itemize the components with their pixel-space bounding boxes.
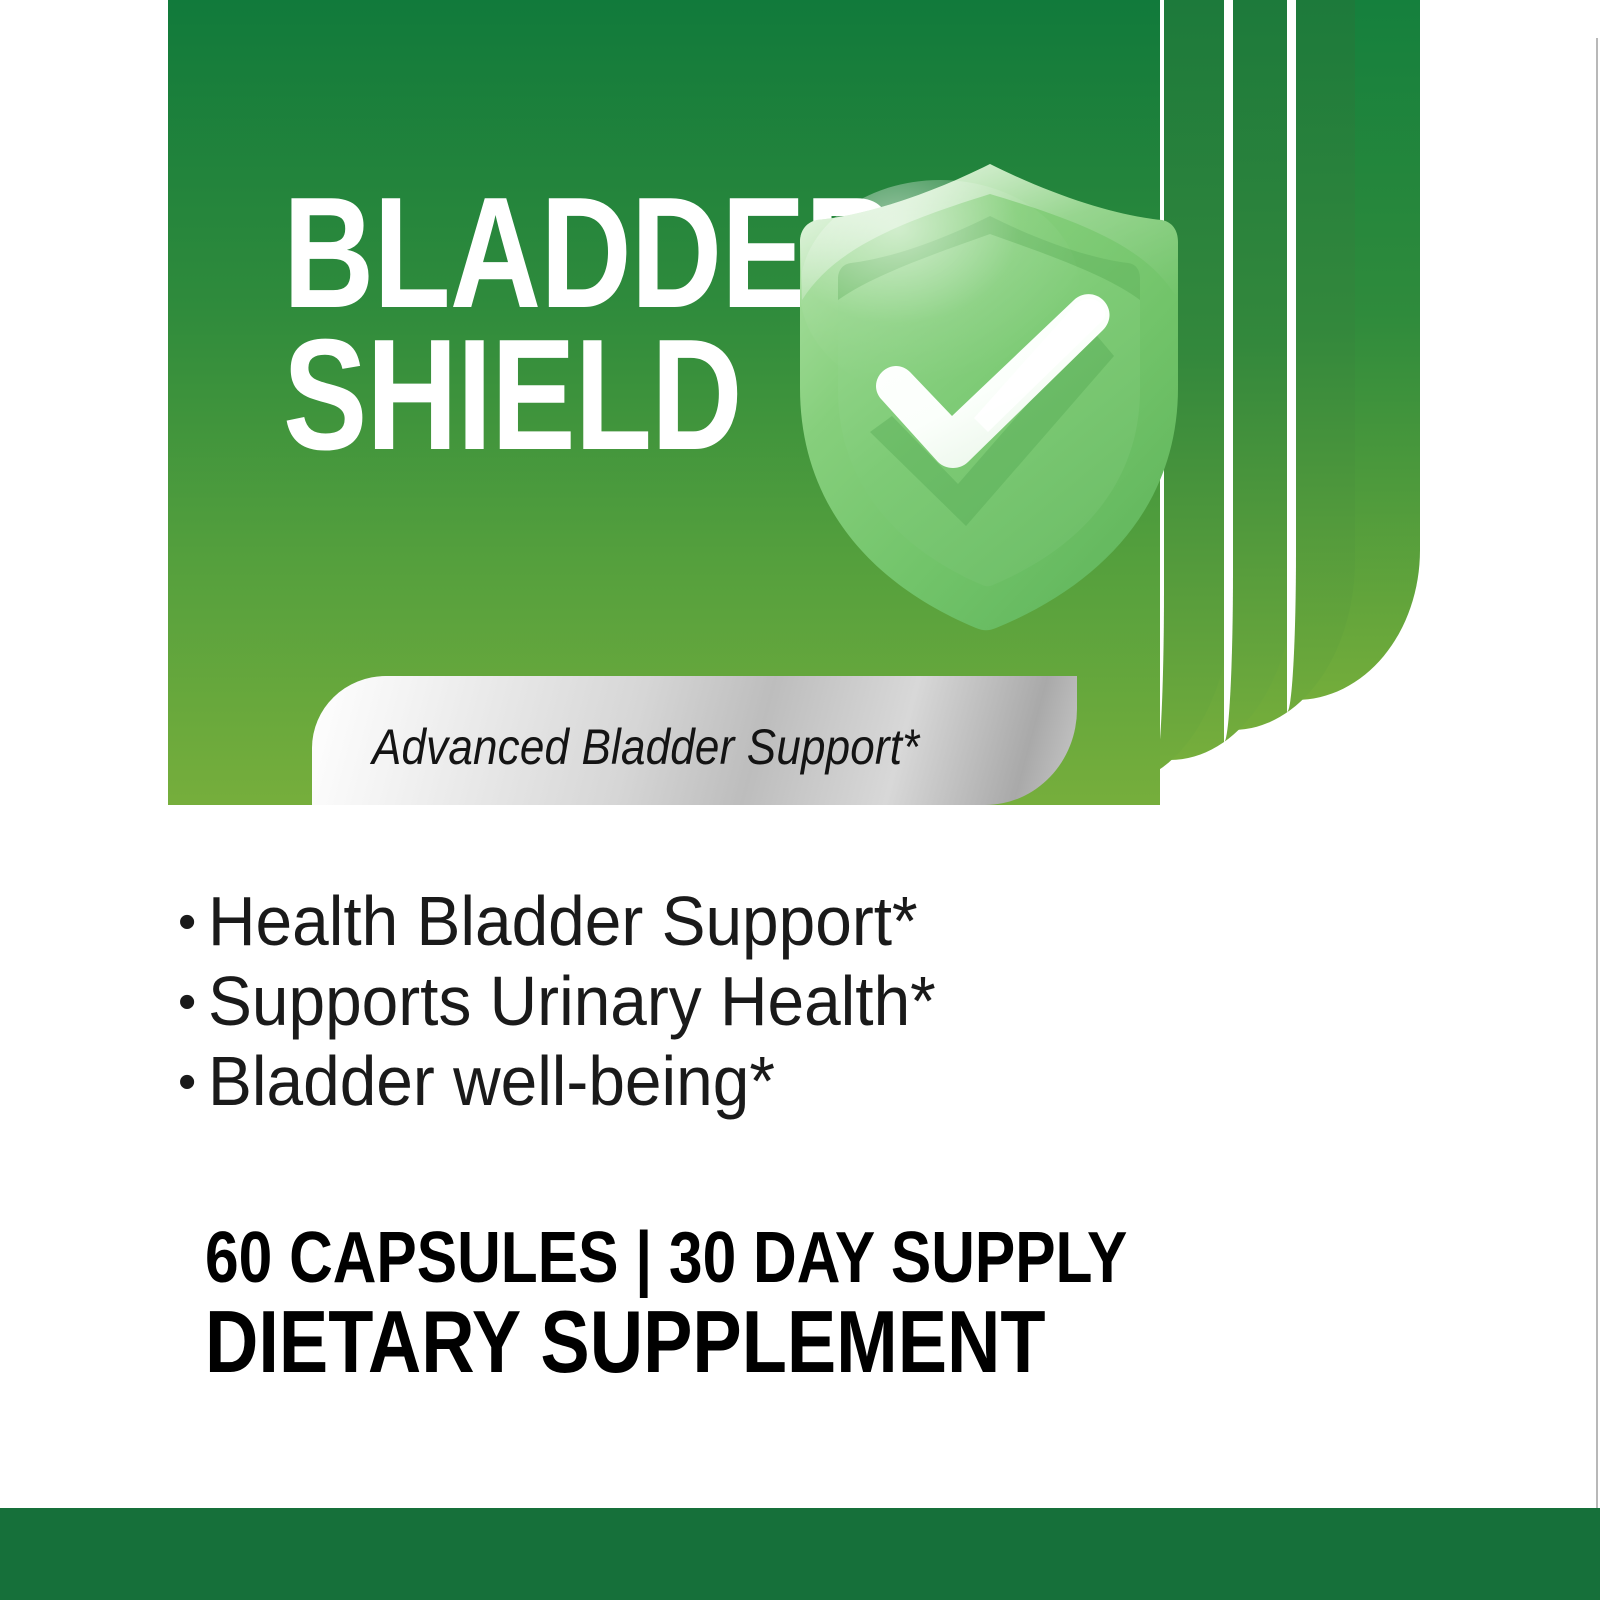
supplement-label-page: BLADDER SHIELD Advanced Bladder Support* (0, 0, 1600, 1600)
product-hero: BLADDER SHIELD Advanced Bladder Support* (0, 0, 1600, 810)
benefits-list: • Health Bladder Support* • Supports Uri… (178, 882, 1278, 1121)
band-separator-3 (1287, 0, 1296, 712)
benefit-label: Bladder well-being* (208, 1042, 775, 1122)
tagline-text: Advanced Bladder Support* (372, 718, 919, 776)
bullet-icon: • (178, 976, 208, 1028)
bullet-icon: • (178, 896, 208, 948)
shield-check-icon (790, 150, 1190, 640)
footer-bar (0, 1508, 1600, 1600)
pack-info: 60 CAPSULES | 30 DAY SUPPLY DIETARY SUPP… (205, 1222, 1305, 1387)
brand-line-secondary: SHIELD (283, 324, 795, 466)
pack-type-line: DIETARY SUPPLEMENT (205, 1297, 1129, 1387)
benefit-item: • Health Bladder Support* (178, 882, 1278, 962)
bullet-icon: • (178, 1056, 208, 1108)
benefit-label: Supports Urinary Health* (208, 962, 936, 1042)
page-right-rule (1596, 38, 1598, 1508)
tagline-banner: Advanced Bladder Support* (312, 676, 1077, 805)
benefit-item: • Bladder well-being* (178, 1042, 1278, 1122)
pack-count-line: 60 CAPSULES | 30 DAY SUPPLY (205, 1222, 1129, 1295)
benefit-item: • Supports Urinary Health* (178, 962, 1278, 1042)
benefit-label: Health Bladder Support* (208, 882, 918, 962)
band-separator-2 (1224, 0, 1233, 742)
brand-line-primary: BLADDER (283, 182, 795, 324)
